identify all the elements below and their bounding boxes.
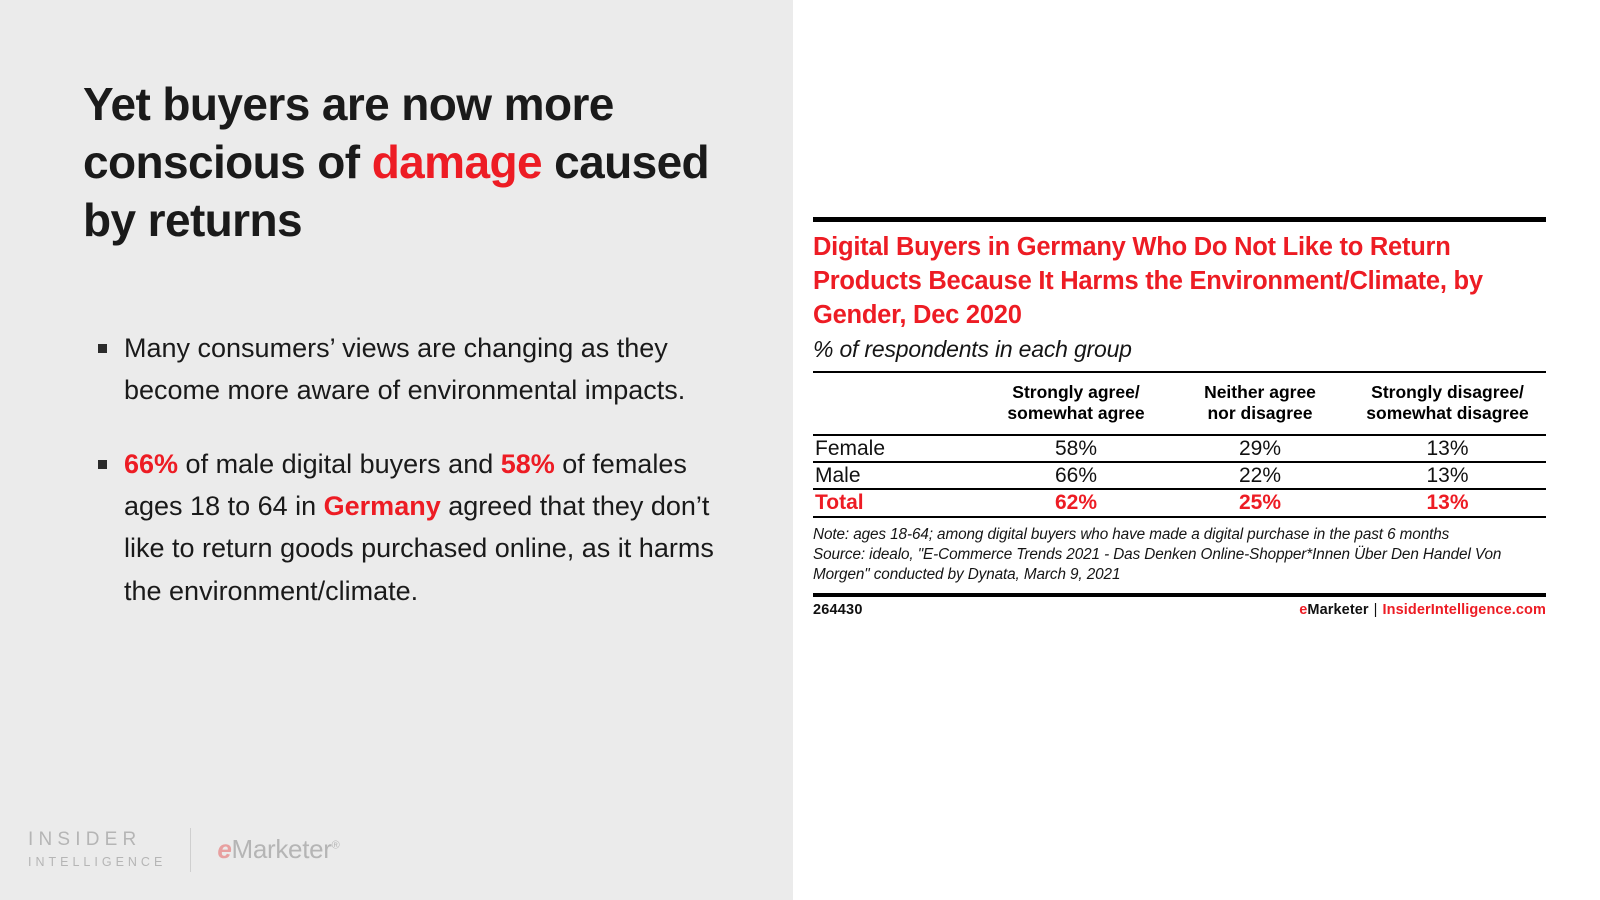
table-header-row: Strongly agree/ somewhat agree Neither a…	[813, 372, 1546, 435]
list-item: 66% of male digital buyers and 58% of fe…	[98, 443, 718, 611]
logo-intelligence-line: INTELLIGENCE	[28, 854, 166, 872]
footer-site-link[interactable]: InsiderIntelligence.com	[1383, 602, 1546, 618]
bullet-2-segment-1: of male digital buyers and	[178, 449, 501, 479]
chart-subtitle: % of respondents in each group	[813, 335, 1546, 365]
row-label-male: Male	[813, 462, 981, 489]
column-header-line1: Strongly disagree/	[1351, 382, 1544, 404]
registered-mark-icon: ®	[332, 839, 340, 851]
cell-female-disagree: 13%	[1349, 435, 1546, 462]
bullet-1-segment-0: Many consumers’ views are changing as th…	[124, 333, 685, 405]
column-header-line2: somewhat agree	[983, 403, 1169, 425]
chart-title: Digital Buyers in Germany Who Do Not Lik…	[813, 231, 1546, 333]
bullet-text: 66% of male digital buyers and 58% of fe…	[124, 443, 718, 611]
bullet-2-stat-female: 58%	[501, 449, 555, 479]
emarketer-logo: eMarketer®	[217, 834, 339, 865]
row-label-total: Total	[813, 489, 981, 516]
cell-female-neither: 29%	[1171, 435, 1349, 462]
column-header-line2: nor disagree	[1173, 403, 1347, 425]
headline-accent-word: damage	[372, 136, 542, 188]
cell-female-agree: 58%	[981, 435, 1171, 462]
cell-male-agree: 66%	[981, 462, 1171, 489]
chart-card: Digital Buyers in Germany Who Do Not Lik…	[813, 217, 1546, 618]
table-row: Male 66% 22% 13%	[813, 462, 1546, 489]
logo-insider-line: INSIDER	[28, 827, 166, 854]
chart-note: Note: ages 18-64; among digital buyers w…	[813, 526, 1449, 543]
column-header-line1: Neither agree	[1173, 382, 1347, 404]
emarketer-logo-e: e	[217, 834, 231, 864]
slide-root: Yet buyers are now more conscious of dam…	[0, 0, 1600, 900]
column-header-line1: Strongly agree/	[983, 382, 1169, 404]
square-bullet-icon	[98, 443, 124, 472]
chart-footer: 264430 eMarketer|InsiderIntelligence.com	[813, 602, 1546, 618]
bullet-text: Many consumers’ views are changing as th…	[124, 327, 718, 411]
cell-male-disagree: 13%	[1349, 462, 1546, 489]
square-bullet-icon	[98, 327, 124, 356]
bullet-2-country: Germany	[324, 491, 441, 521]
data-table: Strongly agree/ somewhat agree Neither a…	[813, 371, 1546, 518]
insider-intelligence-logo: INSIDER INTELLIGENCE	[28, 827, 166, 872]
logo-divider	[190, 828, 191, 872]
cell-total-agree: 62%	[981, 489, 1171, 516]
bullet-2-stat-male: 66%	[124, 449, 178, 479]
table-row: Female 58% 29% 13%	[813, 435, 1546, 462]
chart-panel: Digital Buyers in Germany Who Do Not Lik…	[793, 0, 1600, 900]
chart-source: Source: idealo, "E-Commerce Trends 2021 …	[813, 545, 1546, 586]
page-title: Yet buyers are now more conscious of dam…	[83, 76, 743, 250]
column-header-strongly-agree: Strongly agree/ somewhat agree	[981, 372, 1171, 435]
cell-total-neither: 25%	[1171, 489, 1349, 516]
column-header-neither: Neither agree nor disagree	[1171, 372, 1349, 435]
table-head: Strongly agree/ somewhat agree Neither a…	[813, 372, 1546, 435]
row-label-female: Female	[813, 435, 981, 462]
left-content-panel: Yet buyers are now more conscious of dam…	[0, 0, 793, 900]
footer-separator: |	[1374, 602, 1378, 618]
footer-brand: eMarketer|InsiderIntelligence.com	[1299, 602, 1546, 618]
chart-notes: Note: ages 18-64; among digital buyers w…	[813, 525, 1546, 586]
cell-total-disagree: 13%	[1349, 489, 1546, 516]
column-header-line2: somewhat disagree	[1351, 403, 1544, 425]
column-header-rowlabel	[813, 372, 981, 435]
emarketer-logo-rest: Marketer	[231, 834, 331, 864]
brand-logo: INSIDER INTELLIGENCE eMarketer®	[28, 827, 339, 872]
chart-top-rule	[813, 217, 1546, 222]
chart-id: 264430	[813, 602, 863, 618]
bullet-list: Many consumers’ views are changing as th…	[98, 327, 718, 644]
table-row-total: Total 62% 25% 13%	[813, 489, 1546, 516]
chart-bottom-rule	[813, 593, 1546, 598]
footer-emarketer-label: Marketer	[1307, 602, 1368, 618]
list-item: Many consumers’ views are changing as th…	[98, 327, 718, 411]
cell-male-neither: 22%	[1171, 462, 1349, 489]
column-header-strongly-disagree: Strongly disagree/ somewhat disagree	[1349, 372, 1546, 435]
table-body: Female 58% 29% 13% Male 66% 22% 13% Tota…	[813, 435, 1546, 517]
